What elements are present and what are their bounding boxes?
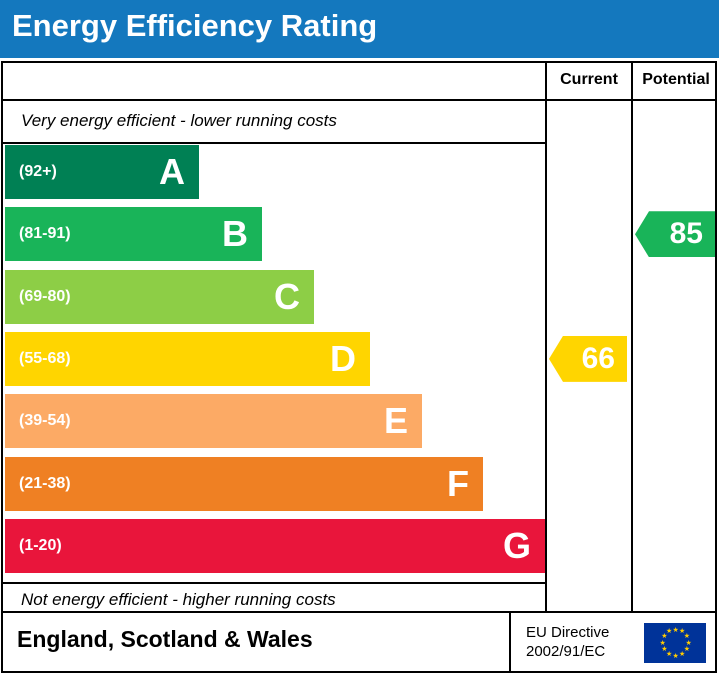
caption-inefficient: Not energy efficient - higher running co… [21,590,336,610]
marker-potential: 85 [635,211,715,257]
band-letter-a: A [159,154,185,190]
band-range-e: (39-54) [19,412,71,430]
marker-current: 66 [549,336,627,382]
band-list: (92+)A(81-91)B(69-80)C(55-68)D(39-54)E(2… [5,145,545,581]
band-e: (39-54)E [5,394,422,448]
eu-star-icon: ★ [686,641,691,646]
rating-chart: Current Potential Very energy efficient … [1,61,717,613]
band-f: (21-38)F [5,457,483,511]
band-g: (1-20)G [5,519,545,573]
column-divider-potential [631,63,633,611]
band-a: (92+)A [5,145,199,199]
column-header-potential: Potential [633,71,719,89]
band-range-d: (55-68) [19,350,71,368]
band-range-a: (92+) [19,163,57,181]
band-letter-f: F [447,466,469,502]
band-range-g: (1-20) [19,537,62,555]
footer-divider [509,613,511,671]
header-bar: Energy Efficiency Rating [0,0,719,58]
band-letter-e: E [384,403,408,439]
header-divider [3,99,715,101]
footer-region-label: England, Scotland & Wales [17,626,313,653]
column-divider-current [545,63,547,611]
eu-star-icon: ★ [660,641,665,646]
caption-efficient: Very energy efficient - lower running co… [21,111,337,131]
epc-certificate: Energy Efficiency Rating Current Potenti… [0,0,719,675]
band-b: (81-91)B [5,207,262,261]
band-range-b: (81-91) [19,225,71,243]
band-d: (55-68)D [5,332,370,386]
eu-star-icon: ★ [684,634,689,639]
caption-bottom-divider [3,582,545,584]
band-range-f: (21-38) [19,475,71,493]
band-letter-g: G [503,528,531,564]
eu-flag-icon: ★★★★★★★★★★★★ [644,623,706,663]
eu-star-icon: ★ [661,647,666,652]
eu-directive-line1: EU Directive [526,623,609,642]
eu-directive-line2: 2002/91/EC [526,642,609,661]
eu-directive-text: EU Directive 2002/91/EC [526,623,609,661]
band-range-c: (69-80) [19,288,71,306]
page-title: Energy Efficiency Rating [12,8,377,44]
band-letter-d: D [330,341,356,377]
eu-star-icon: ★ [679,652,684,657]
footer-bar: England, Scotland & Wales EU Directive 2… [1,613,717,673]
column-header-current: Current [547,71,631,89]
band-letter-b: B [222,216,248,252]
eu-star-icon: ★ [673,628,678,633]
caption-top-divider [3,142,545,144]
band-c: (69-80)C [5,270,314,324]
eu-star-icon: ★ [673,654,678,659]
eu-star-icon: ★ [666,629,671,634]
band-letter-c: C [274,279,300,315]
